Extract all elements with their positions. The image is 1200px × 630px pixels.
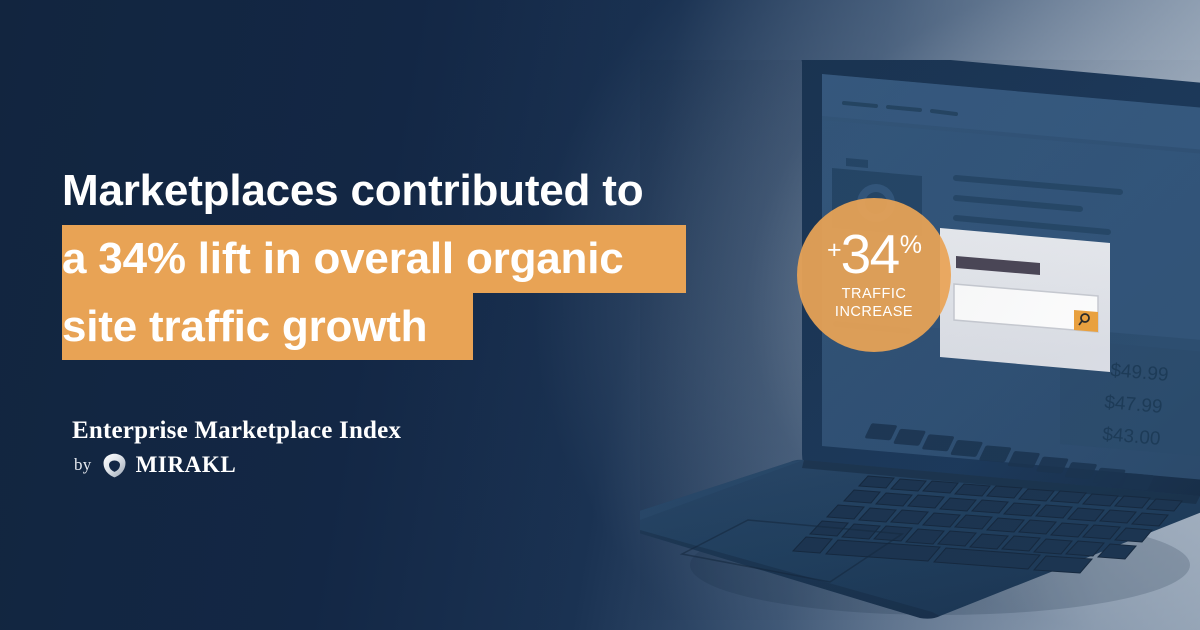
trackpad [682, 520, 902, 582]
magnifier-icon [1079, 314, 1089, 325]
price-value-2: $47.99 [1104, 392, 1164, 418]
headline-line-1: Marketplaces contributed to [62, 157, 762, 225]
search-card [940, 228, 1110, 372]
nav-dash-group [844, 103, 956, 114]
screen-text-lines [956, 178, 1120, 232]
price-value-1: $49.99 [1110, 360, 1170, 386]
brand-company-name: MIRAKL [136, 452, 237, 478]
headline-line-3: site traffic growth [62, 293, 762, 361]
price-value-3: $43.00 [1102, 424, 1162, 450]
search-input [954, 284, 1098, 332]
brand-by-label: by [74, 455, 92, 475]
marketing-banner: $49.99 BUY $47.99 BUY $43.00 BUY [0, 0, 1200, 630]
badge-label-line2: INCREASE [835, 304, 913, 322]
headline-line-2: a 34% lift in overall organic [62, 225, 762, 293]
badge-number: 34 [841, 229, 899, 280]
mirakl-shield-icon [101, 452, 128, 479]
traffic-increase-badge: + 34 % TRAFFIC INCREASE [797, 198, 951, 352]
headline: Marketplaces contributed to a 34% lift i… [62, 157, 762, 361]
badge-value: + 34 % [827, 229, 921, 280]
badge-percent-sign: % [900, 233, 921, 258]
badge-plus-sign: + [827, 238, 841, 263]
badge-label-line1: TRAFFIC [835, 286, 913, 304]
screen-navbar [822, 74, 1200, 158]
product-price-rows: $49.99 BUY $47.99 BUY $43.00 BUY [1060, 328, 1200, 464]
branding: Enterprise Marketplace Index by MIRAKL [72, 417, 401, 479]
brand-title: Enterprise Marketplace Index [72, 417, 401, 446]
search-button [1074, 310, 1098, 332]
laptop-base [640, 423, 1200, 619]
badge-label: TRAFFIC INCREASE [835, 286, 913, 321]
search-label-bar [956, 256, 1040, 275]
keyboard-rows [793, 476, 1182, 573]
keyboard-keys [851, 423, 1167, 490]
brand-byline: by MIRAKL [74, 452, 401, 479]
